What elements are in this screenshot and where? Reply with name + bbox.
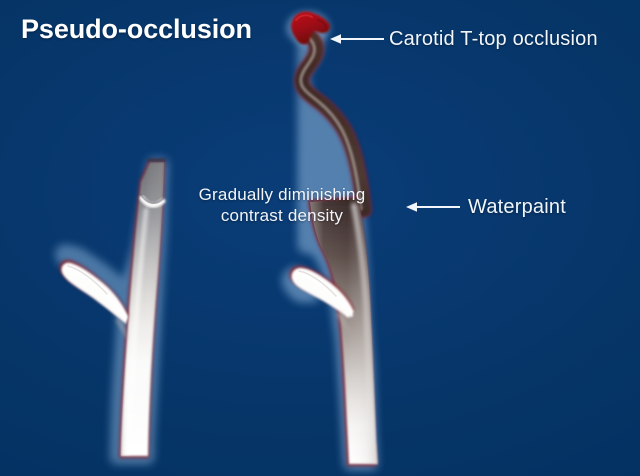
illustration-canvas: Pseudo-occlusion Carotid T-top occlusion… bbox=[0, 0, 640, 476]
label-contrast-density: Gradually diminishing contrast density bbox=[182, 184, 382, 226]
carotid-occlusion-arrow-icon bbox=[330, 31, 386, 47]
contrast-density-line-2: contrast density bbox=[182, 205, 382, 226]
label-waterpaint: Waterpaint bbox=[468, 196, 566, 219]
label-carotid-t-top-occlusion: Carotid T-top occlusion bbox=[389, 28, 598, 51]
page-title: Pseudo-occlusion bbox=[21, 14, 252, 45]
right-vessel-group bbox=[284, 11, 377, 468]
waterpaint-arrow-icon bbox=[406, 199, 462, 215]
vessel-illustration bbox=[0, 0, 640, 476]
left-vessel-group bbox=[56, 158, 166, 462]
contrast-density-line-1: Gradually diminishing bbox=[182, 184, 382, 205]
